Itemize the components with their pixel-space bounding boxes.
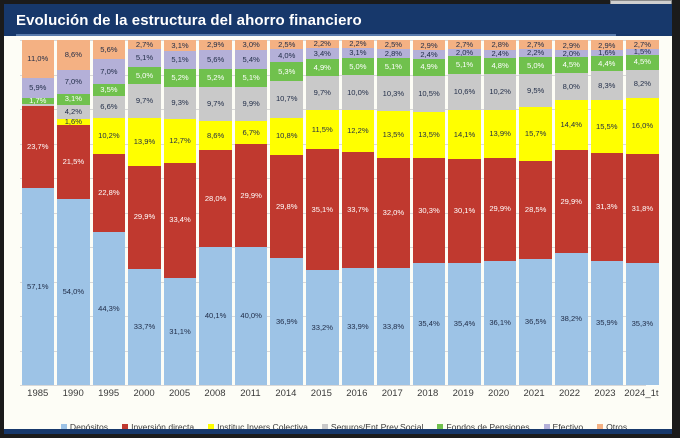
bar-segment-label: 8,0%: [563, 83, 580, 91]
bar-segment-label: 3,1%: [171, 42, 188, 50]
bar-segment-label: 57,1%: [27, 283, 49, 291]
bar-segment-label: 3,0%: [243, 41, 260, 49]
x-axis-tick-label: 2020: [482, 388, 514, 404]
bar-segment[interactable]: 40,1%: [199, 247, 232, 385]
bar-segment-label: 33,8%: [383, 323, 405, 331]
bar-segment-label: 35,4%: [418, 320, 440, 328]
bar-segment-label: 9,7%: [314, 89, 331, 97]
bar-segment-label: 8,2%: [634, 80, 651, 88]
chart-column[interactable]: 3,0%5,4%5,1%9,9%6,7%29,9%40,0%: [235, 40, 268, 385]
bar-segment-label: 38,2%: [560, 315, 582, 323]
bar-segment[interactable]: 31,3%: [591, 153, 624, 261]
bar-segment[interactable]: 29,9%: [484, 158, 517, 261]
bar-segment[interactable]: 3,0%: [235, 40, 268, 50]
bar-segment-label: 9,7%: [136, 97, 153, 105]
bar-segment[interactable]: 30,1%: [448, 159, 481, 263]
bar-segment-label: 2,2%: [314, 40, 331, 48]
bar-segment-label: 4,5%: [563, 61, 580, 69]
bar-segment[interactable]: 2,8%: [377, 49, 410, 59]
bar-segment-label: 5,2%: [207, 74, 224, 82]
bar-segment[interactable]: 21,5%: [57, 125, 90, 199]
bar-segment-label: 10,6%: [454, 88, 476, 96]
bar-segment-label: 29,9%: [240, 192, 262, 200]
bar-segment[interactable]: 28,5%: [519, 161, 552, 259]
bar-segment-label: 12,7%: [169, 137, 191, 145]
bar-segment[interactable]: 4,8%: [484, 58, 517, 75]
bar-segment-label: 2,8%: [491, 41, 508, 49]
bar-segment-label: 31,1%: [169, 328, 191, 336]
bar-segment[interactable]: 35,9%: [591, 261, 624, 385]
bar-segment[interactable]: 5,1%: [164, 51, 197, 69]
bar-segment-label: 5,0%: [349, 63, 366, 71]
bar-segment-label: 31,8%: [632, 205, 654, 213]
bar-segment-label: 2,4%: [491, 50, 508, 58]
bar-segment[interactable]: 36,9%: [270, 258, 303, 385]
bar-segment[interactable]: 10,8%: [270, 118, 303, 155]
bar-segment-label: 40,0%: [240, 312, 262, 320]
bar-segment-label: 40,1%: [205, 312, 227, 320]
bar-segment-label: 14,4%: [560, 121, 582, 129]
bar-segment[interactable]: 5,0%: [342, 58, 375, 75]
chart-column[interactable]: 2,7%1,5%4,5%8,2%16,0%31,8%35,3%: [626, 40, 659, 385]
bar-segment[interactable]: 10,5%: [413, 76, 446, 112]
bar-segment-label: 10,3%: [383, 90, 405, 98]
bar-segment[interactable]: 12,2%: [342, 110, 375, 152]
bar-segment-label: 5,0%: [136, 72, 153, 80]
bar-segment-label: 5,3%: [278, 68, 295, 76]
bar-segment-label: 2,2%: [527, 49, 544, 57]
x-axis-tick-label: 2016: [341, 388, 373, 404]
chart-column[interactable]: 2,2%3,1%5,0%10,0%12,2%33,7%33,9%: [342, 40, 375, 385]
bar-segment[interactable]: 7,0%: [93, 59, 126, 83]
bar-segment[interactable]: 2,5%: [377, 40, 410, 49]
bar-segment-label: 4,9%: [420, 63, 437, 71]
bar-segment[interactable]: 4,9%: [413, 59, 446, 76]
bar-segment-label: 4,2%: [65, 108, 82, 116]
x-axis-tick-label: 2021: [518, 388, 550, 404]
bar-segment[interactable]: 36,1%: [484, 261, 517, 385]
bar-segment[interactable]: 10,2%: [93, 118, 126, 153]
x-axis-tick-label: 1985: [22, 388, 54, 404]
bar-segment-label: 30,3%: [418, 207, 440, 215]
bar-segment[interactable]: 40,0%: [235, 247, 268, 385]
bar-segment[interactable]: 15,5%: [591, 100, 624, 153]
bar-segment[interactable]: 13,5%: [413, 112, 446, 159]
bar-segment[interactable]: 5,9%: [22, 78, 55, 98]
bar-segment-label: 10,2%: [98, 132, 120, 140]
bar-segment-label: 28,0%: [205, 195, 227, 203]
title-bar: Evolución de la estructura del ahorro fi…: [4, 4, 672, 36]
bar-segment-label: 23,7%: [27, 143, 49, 151]
bar-segment-label: 5,1%: [136, 54, 153, 62]
bar-segment-label: 8,3%: [598, 82, 615, 90]
bar-segment-label: 9,9%: [243, 100, 260, 108]
bar-segment[interactable]: 29,9%: [235, 144, 268, 247]
bar-segment[interactable]: 22,8%: [93, 154, 126, 233]
bar-segment-label: 4,4%: [598, 60, 615, 68]
bar-segment-label: 31,3%: [596, 203, 618, 211]
bar-segment-label: 36,5%: [525, 318, 547, 326]
bar-segment[interactable]: 5,2%: [164, 69, 197, 87]
x-axis-tick-label: 1995: [92, 388, 124, 404]
bar-segment-label: 3,1%: [349, 49, 366, 57]
bar-segment-label: 3,5%: [100, 86, 117, 94]
bar-segment[interactable]: 33,4%: [164, 163, 197, 278]
bar-segment[interactable]: 9,7%: [128, 84, 161, 117]
bar-segment[interactable]: 5,3%: [270, 62, 303, 80]
bar-segment-label: 22,8%: [98, 189, 120, 197]
bar-segment-label: 5,9%: [29, 84, 46, 92]
bar-segment[interactable]: 5,6%: [199, 50, 232, 69]
bar-segment-label: 5,0%: [527, 62, 544, 70]
bar-segment-label: 10,7%: [276, 95, 298, 103]
bar-segment-label: 5,6%: [100, 46, 117, 54]
bar-segment-label: 4,8%: [491, 62, 508, 70]
bar-segment[interactable]: 57,1%: [22, 188, 55, 385]
chart-column[interactable]: 2,2%3,4%4,9%9,7%11,5%35,1%33,2%: [306, 40, 339, 385]
bar-segment[interactable]: 2,2%: [306, 40, 339, 48]
bar-segment[interactable]: 35,4%: [448, 263, 481, 385]
bar-segment[interactable]: 5,2%: [199, 69, 232, 87]
bar-segment-label: 5,1%: [171, 56, 188, 64]
bar-segment-label: 36,1%: [489, 319, 511, 327]
bar-segment-label: 10,2%: [489, 88, 511, 96]
bar-segment[interactable]: 2,9%: [413, 40, 446, 50]
bar-segment[interactable]: 6,6%: [93, 96, 126, 119]
bar-segment[interactable]: 8,6%: [199, 121, 232, 151]
bar-segment[interactable]: 4,5%: [555, 57, 588, 73]
bar-segment-label: 5,1%: [456, 61, 473, 69]
bar-segment[interactable]: 3,1%: [57, 94, 90, 105]
bar-segment-label: 4,9%: [314, 64, 331, 72]
bar-segment-label: 13,5%: [418, 131, 440, 139]
bar-segment[interactable]: 2,5%: [270, 40, 303, 49]
window-frame-bottom: [0, 434, 680, 438]
bar-segment[interactable]: 35,4%: [413, 263, 446, 385]
bar-segment[interactable]: 5,1%: [128, 49, 161, 67]
bar-segment-label: 2,9%: [420, 42, 437, 50]
bar-segment[interactable]: 54,0%: [57, 199, 90, 385]
bar-segment[interactable]: 10,7%: [270, 81, 303, 118]
bottom-band: [4, 429, 672, 434]
bar-segment-label: 14,1%: [454, 131, 476, 139]
bar-segment-label: 6,7%: [243, 129, 260, 137]
bar-segment-label: 8,6%: [207, 132, 224, 140]
bar-segment[interactable]: 2,2%: [519, 49, 552, 57]
chart-column[interactable]: 2,7%2,2%5,0%9,5%15,7%28,5%36,5%: [519, 40, 552, 385]
bar-segment-label: 2,8%: [385, 50, 402, 58]
bar-segment-label: 11,5%: [312, 126, 333, 134]
bar-segment[interactable]: 7,0%: [57, 70, 90, 94]
bar-segment-label: 44,3%: [98, 305, 120, 313]
bar-segment[interactable]: 35,3%: [626, 263, 659, 385]
x-axis-tick-label: 2000: [128, 388, 160, 404]
bar-segment-label: 33,4%: [169, 216, 191, 224]
bar-segment[interactable]: 29,8%: [270, 155, 303, 258]
bar-segment[interactable]: 30,3%: [413, 158, 446, 263]
bar-segment-label: 3,4%: [314, 50, 331, 58]
bar-segment[interactable]: 2,0%: [448, 49, 481, 56]
bar-segment[interactable]: 10,6%: [448, 74, 481, 111]
bar-segment-label: 2,4%: [420, 51, 437, 59]
bar-segment[interactable]: 2,0%: [555, 50, 588, 57]
bar-segment[interactable]: 5,4%: [235, 50, 268, 69]
bar-segment-label: 7,0%: [100, 68, 117, 76]
chart-column[interactable]: 11,0%5,9%1,7%23,7%57,1%: [22, 40, 55, 385]
bar-segment[interactable]: 6,7%: [235, 121, 268, 144]
bar-segment-label: 2,2%: [349, 40, 366, 48]
bar-segment-label: 5,1%: [385, 63, 402, 71]
x-axis-tick-label: 2019: [447, 388, 479, 404]
chart-column[interactable]: 2,5%4,0%5,3%10,7%10,8%29,8%36,9%: [270, 40, 303, 385]
bar-segment-label: 28,5%: [525, 206, 547, 214]
x-axis-tick-label: 2008: [199, 388, 231, 404]
bar-segment[interactable]: 36,5%: [519, 259, 552, 385]
bar-segment-label: 32,0%: [383, 209, 405, 217]
bar-segment[interactable]: 12,7%: [164, 119, 197, 163]
bar-segment-label: 36,9%: [276, 318, 298, 326]
bar-segment-label: 2,9%: [563, 42, 580, 50]
bar-segment[interactable]: 44,3%: [93, 232, 126, 385]
bar-segment[interactable]: 15,7%: [519, 107, 552, 161]
bar-segment[interactable]: 10,0%: [342, 75, 375, 109]
chart-column[interactable]: 3,1%5,1%5,2%9,3%12,7%33,4%31,1%: [164, 40, 197, 385]
chart-column[interactable]: 2,7%2,0%5,1%10,6%14,1%30,1%35,4%: [448, 40, 481, 385]
bar-segment[interactable]: 8,2%: [626, 70, 659, 98]
chart-column[interactable]: 2,9%2,0%4,5%8,0%14,4%29,9%38,2%: [555, 40, 588, 385]
x-axis-tick-label: 2015: [305, 388, 337, 404]
chart-column[interactable]: 2,9%1,6%4,4%8,3%15,5%31,3%35,9%: [591, 40, 624, 385]
bar-segment-label: 13,5%: [383, 131, 405, 139]
bar-segment-label: 11,0%: [27, 55, 48, 63]
bar-segment-label: 2,5%: [278, 41, 295, 49]
bar-segment[interactable]: 33,7%: [342, 152, 375, 268]
bar-segment[interactable]: 9,7%: [199, 87, 232, 120]
chart-column[interactable]: 8,6%7,0%3,1%4,2%1,6%21,5%54,0%: [57, 40, 90, 385]
chart-plot-area: 11,0%5,9%1,7%23,7%57,1%8,6%7,0%3,1%4,2%1…: [20, 40, 660, 385]
bar-segment[interactable]: 9,3%: [164, 87, 197, 119]
bar-segment[interactable]: 5,1%: [448, 56, 481, 74]
bar-segment[interactable]: 14,1%: [448, 110, 481, 159]
bar-segment[interactable]: 8,0%: [555, 73, 588, 101]
bar-segment[interactable]: 2,2%: [342, 40, 375, 48]
bar-segment-label: 33,9%: [347, 323, 369, 331]
bar-segment-label: 35,3%: [632, 320, 654, 328]
bar-segment[interactable]: 11,0%: [22, 40, 55, 78]
bar-segment[interactable]: 33,9%: [342, 268, 375, 385]
bar-segment[interactable]: 5,1%: [235, 69, 268, 87]
bar-segment-label: 29,9%: [489, 205, 511, 213]
bar-segment[interactable]: 4,4%: [591, 56, 624, 71]
bar-segment[interactable]: 14,4%: [555, 100, 588, 150]
bar-segment-label: 4,5%: [634, 58, 651, 66]
bar-segment-label: 29,8%: [276, 203, 298, 211]
bar-segment-label: 7,0%: [65, 78, 82, 86]
bar-segment[interactable]: 2,9%: [199, 40, 232, 50]
x-axis-tick-label: 2005: [163, 388, 195, 404]
bar-segment-label: 3,1%: [65, 95, 82, 103]
bar-segment[interactable]: 4,9%: [306, 59, 339, 76]
bar-segment[interactable]: 3,1%: [342, 48, 375, 59]
bar-segment[interactable]: 31,8%: [626, 154, 659, 264]
page-title: Evolución de la estructura del ahorro fi…: [4, 12, 362, 29]
bar-segment[interactable]: 10,3%: [377, 76, 410, 112]
bar-segment[interactable]: 5,0%: [519, 57, 552, 74]
bar-segment[interactable]: 29,9%: [128, 166, 161, 269]
bar-segment-label: 10,5%: [418, 90, 440, 98]
title-underline: [16, 34, 616, 36]
bar-segment-label: 5,1%: [243, 74, 260, 82]
bar-segment[interactable]: 35,1%: [306, 149, 339, 270]
chart-column[interactable]: 2,5%2,8%5,1%10,3%13,5%32,0%33,8%: [377, 40, 410, 385]
bar-segment-label: 2,7%: [136, 41, 153, 49]
bar-segment[interactable]: 2,4%: [413, 50, 446, 58]
bar-segment[interactable]: 16,0%: [626, 98, 659, 153]
window-frame-left: [0, 0, 4, 438]
bar-segment-label: 5,4%: [243, 56, 260, 64]
bar-segment[interactable]: 23,7%: [22, 106, 55, 188]
bar-segment-label: 6,6%: [100, 103, 117, 111]
x-axis: 1985199019952000200520082011201420152016…: [20, 388, 660, 404]
x-axis-tick-label: 2024_1t: [624, 388, 658, 404]
bar-segment[interactable]: 13,9%: [484, 110, 517, 158]
bar-segment-label: 2,5%: [385, 41, 402, 49]
bar-segment-label: 9,3%: [171, 99, 188, 107]
bar-segment[interactable]: 9,9%: [235, 87, 268, 121]
x-axis-tick-label: 1990: [57, 388, 89, 404]
bar-segment-label: 9,7%: [207, 100, 224, 108]
bar-segment-label: 5,2%: [171, 74, 188, 82]
bar-segment-label: 33,7%: [134, 323, 156, 331]
bar-segment[interactable]: 33,8%: [377, 268, 410, 385]
bar-segment-label: 30,1%: [454, 207, 476, 215]
bar-segment-label: 35,9%: [596, 319, 618, 327]
bar-segment[interactable]: 5,0%: [128, 67, 161, 84]
bar-segment-label: 16,0%: [632, 122, 654, 130]
chart-column[interactable]: 2,9%5,6%5,2%9,7%8,6%28,0%40,1%: [199, 40, 232, 385]
bar-segment[interactable]: 3,1%: [164, 40, 197, 51]
x-axis-tick-label: 2022: [553, 388, 585, 404]
bar-segment[interactable]: 9,7%: [306, 76, 339, 109]
bar-segment[interactable]: 10,2%: [484, 74, 517, 109]
bar-segment[interactable]: 9,5%: [519, 74, 552, 107]
bar-segment-label: 12,2%: [347, 127, 369, 135]
bar-segment[interactable]: 4,5%: [626, 55, 659, 71]
bar-segment[interactable]: 5,6%: [93, 40, 126, 59]
gridline: [20, 385, 646, 386]
bar-segment-label: 35,1%: [312, 206, 334, 214]
bar-segment-label: 35,4%: [454, 320, 476, 328]
bar-segment[interactable]: 2,7%: [128, 40, 161, 49]
bar-segment[interactable]: 33,7%: [128, 269, 161, 385]
bar-segment[interactable]: 29,9%: [555, 150, 588, 253]
bar-segment[interactable]: 2,4%: [484, 50, 517, 58]
bar-segment-label: 15,5%: [596, 123, 618, 131]
bar-segment-label: 10,0%: [347, 89, 369, 97]
bar-segment[interactable]: 32,0%: [377, 158, 410, 268]
bar-segment[interactable]: 8,3%: [591, 71, 624, 100]
chart-window: Evolución de la estructura del ahorro fi…: [0, 0, 680, 438]
bar-segment-label: 33,7%: [347, 206, 369, 214]
x-axis-tick-label: 2018: [411, 388, 443, 404]
bar-segment[interactable]: 13,9%: [128, 118, 161, 166]
bar-segment-label: 15,7%: [525, 130, 547, 138]
bar-segment-label: 10,8%: [276, 132, 298, 140]
chart-column[interactable]: 2,7%5,1%5,0%9,7%13,9%29,9%33,7%: [128, 40, 161, 385]
bar-segment[interactable]: 5,1%: [377, 58, 410, 76]
bar-segment[interactable]: 28,0%: [199, 150, 232, 247]
chart-column[interactable]: 5,6%7,0%3,5%6,6%10,2%22,8%44,3%: [93, 40, 126, 385]
x-axis-tick-label: 2011: [234, 388, 266, 404]
bar-segment-label: 29,9%: [134, 213, 156, 221]
bar-segment[interactable]: 33,2%: [306, 270, 339, 385]
bar-segment-label: 8,6%: [65, 51, 82, 59]
bar-segment[interactable]: 3,4%: [306, 48, 339, 60]
bar-segment-label: 13,9%: [134, 138, 156, 146]
bar-segment[interactable]: 13,5%: [377, 111, 410, 158]
bar-segment[interactable]: 31,1%: [164, 278, 197, 385]
bar-segment-label: 2,9%: [207, 41, 224, 49]
x-axis-tick-label: 2017: [376, 388, 408, 404]
bar-segment[interactable]: 11,5%: [306, 110, 339, 150]
bar-segment-label: 4,0%: [278, 52, 295, 60]
bar-segment-label: 33,2%: [312, 324, 334, 332]
bar-segment[interactable]: 4,0%: [270, 49, 303, 63]
bar-segment-label: 5,6%: [207, 56, 224, 64]
chart-column[interactable]: 2,8%2,4%4,8%10,2%13,9%29,9%36,1%: [484, 40, 517, 385]
bar-segment-label: 29,9%: [560, 198, 582, 206]
chart-column[interactable]: 2,9%2,4%4,9%10,5%13,5%30,3%35,4%: [413, 40, 446, 385]
bar-segment-label: 13,9%: [489, 130, 511, 138]
bar-segment-label: 54,0%: [63, 288, 85, 296]
window-frame-right: [672, 0, 680, 438]
bar-segment-label: 9,5%: [527, 87, 544, 95]
x-axis-tick-label: 2014: [270, 388, 302, 404]
x-axis-tick-label: 2023: [589, 388, 621, 404]
bar-segment[interactable]: 8,6%: [57, 40, 90, 70]
bar-segment[interactable]: 38,2%: [555, 253, 588, 385]
bar-segment-label: 21,5%: [63, 158, 85, 166]
bar-segment-label: 2,7%: [527, 41, 544, 49]
bar-segment[interactable]: 3,5%: [93, 84, 126, 96]
